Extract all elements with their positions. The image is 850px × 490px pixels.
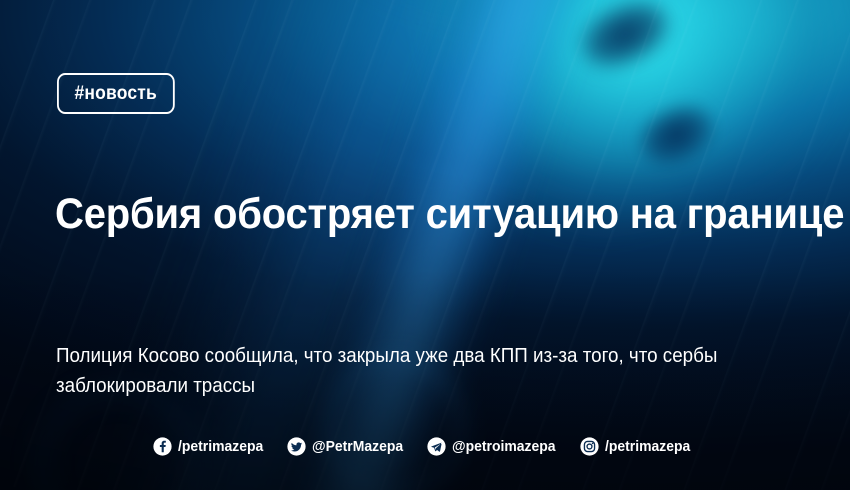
instagram-icon (580, 437, 599, 456)
social-link-telegram[interactable]: @petroimazepa (427, 437, 563, 456)
social-bar: /petrimazepa @PetrMazepa @petroimazepa (0, 437, 850, 456)
twitter-icon (287, 437, 306, 456)
social-link-twitter[interactable]: @PetrMazepa (287, 437, 410, 456)
tag-badge[interactable]: #новость (57, 73, 174, 114)
social-link-instagram[interactable]: /petrimazepa (580, 437, 697, 456)
telegram-icon (427, 437, 446, 456)
social-handle-telegram: @petroimazepa (452, 438, 556, 455)
social-handle-facebook: /petrimazepa (178, 438, 263, 455)
social-handle-twitter: @PetrMazepa (312, 438, 403, 455)
news-card: #новость Сербия обостряет ситуацию на гр… (0, 0, 850, 490)
card-content: #новость Сербия обостряет ситуацию на гр… (0, 0, 850, 490)
social-handle-instagram: /petrimazepa (605, 438, 690, 455)
tag-badge-label: #новость (74, 83, 156, 105)
social-link-facebook[interactable]: /petrimazepa (153, 437, 270, 456)
page-title: Сербия обостряет ситуацию на границе с К… (55, 192, 771, 238)
facebook-icon (153, 437, 172, 456)
subtitle-text: Полиция Косово сообщила, что закрыла уже… (56, 341, 770, 402)
